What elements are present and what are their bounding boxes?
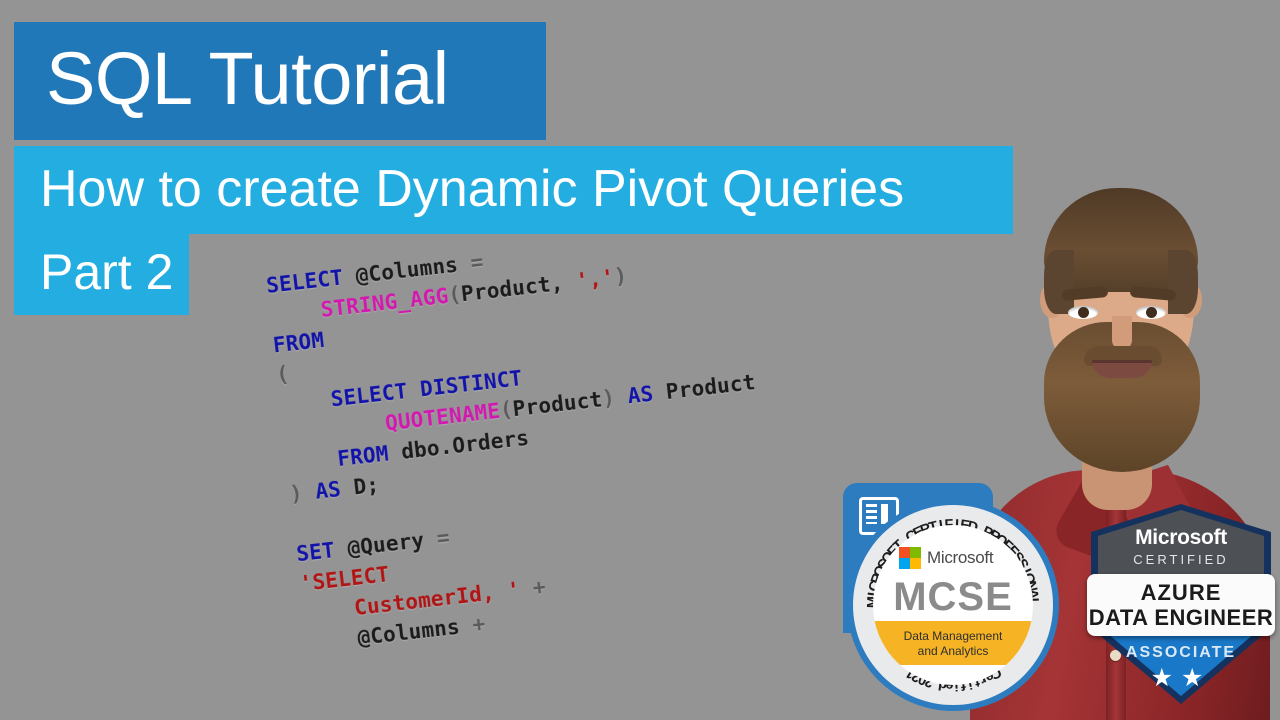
mcse-track: Data Management and Analytics: [873, 623, 1033, 659]
mcse-badge: MICROSOFT CERTIFIED PROFESSIONAL Certifi…: [843, 483, 1061, 715]
page-title: SQL Tutorial: [14, 42, 449, 116]
hair-fade-left: [1044, 250, 1074, 314]
microsoft-squares-icon: [899, 547, 921, 569]
pupil-left: [1078, 307, 1089, 318]
code-token: 'SELECT: [298, 562, 390, 596]
azure-brand: Microsoft: [1091, 526, 1271, 550]
part-banner: Part 2: [14, 231, 189, 315]
azure-certified-label: CERTIFIED: [1091, 552, 1271, 567]
azure-title-line2: DATA ENGINEER: [1087, 605, 1275, 631]
code-token: =: [469, 250, 484, 275]
azure-stars-icon: ★★: [1091, 666, 1271, 691]
nose: [1112, 316, 1132, 350]
code-token: =: [436, 525, 451, 550]
code-token: ): [288, 480, 316, 507]
part-label: Part 2: [14, 247, 173, 297]
code-token: D;: [340, 473, 381, 501]
code-token: AS: [626, 382, 654, 409]
mcse-track-line2: and Analytics: [873, 644, 1033, 659]
title-banner: SQL Tutorial: [14, 22, 546, 140]
mcse-track-line1: Data Management: [873, 629, 1033, 644]
azure-data-engineer-badge: Microsoft CERTIFIED AZURE DATA ENGINEER …: [1091, 504, 1271, 716]
code-token: AS: [314, 477, 342, 504]
microsoft-logo: Microsoft: [899, 547, 993, 569]
subtitle: How to create Dynamic Pivot Queries: [14, 163, 904, 215]
code-token: +: [519, 575, 547, 602]
code-token: FROM: [285, 441, 390, 476]
code-token: (: [275, 362, 290, 387]
azure-title-ribbon: AZURE DATA ENGINEER: [1087, 574, 1275, 636]
code-token: Product,: [460, 269, 578, 306]
mcse-inner-disc: Microsoft MCSE Data Management and Analy…: [873, 525, 1033, 685]
code-token: Product: [652, 370, 757, 405]
pupil-right: [1146, 307, 1157, 318]
code-token: SET: [295, 538, 336, 566]
code-token: SELECT: [265, 265, 344, 297]
code-token: FROM: [272, 328, 326, 358]
code-token: Product: [512, 387, 604, 421]
code-token: ): [613, 264, 628, 289]
hair-fade-right: [1168, 250, 1198, 314]
subtitle-banner: How to create Dynamic Pivot Queries: [14, 146, 1013, 234]
code-token: +: [458, 612, 486, 639]
video-thumbnail: DECLARE @Query NVARCHAR(MAX), @Columns N…: [0, 0, 1280, 720]
azure-level: ASSOCIATE: [1091, 644, 1271, 662]
mouth: [1092, 360, 1152, 378]
code-token: ',': [575, 265, 616, 293]
mcse-acronym: MCSE: [873, 575, 1033, 620]
code-token: ): [601, 384, 629, 411]
microsoft-wordmark: Microsoft: [927, 548, 993, 568]
code-token: @Query: [333, 527, 438, 562]
azure-title-line1: AZURE: [1087, 580, 1275, 606]
